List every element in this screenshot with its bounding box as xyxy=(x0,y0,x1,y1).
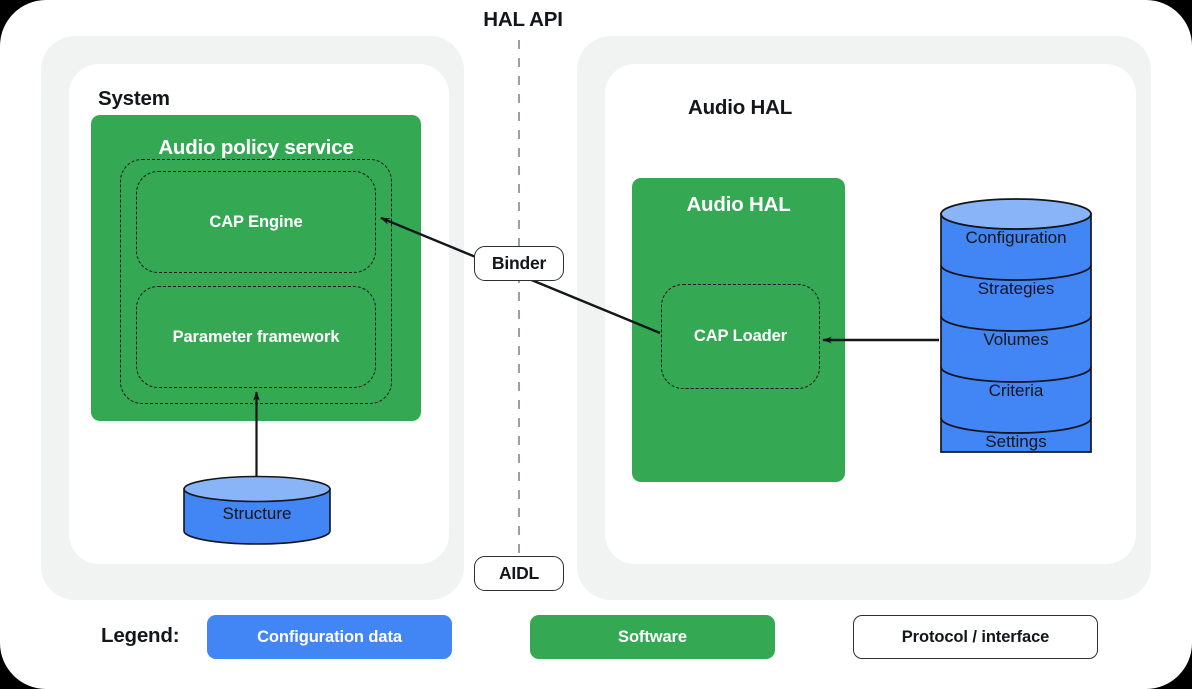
binder-interface-pill[interactable]: Binder xyxy=(474,246,564,281)
cap-engine-label: CAP Engine xyxy=(137,213,375,232)
db-section-strategies: Strategies xyxy=(940,279,1092,299)
structure-database: Structure xyxy=(183,476,331,544)
structure-database-label: Structure xyxy=(183,504,331,524)
legend-label: Legend: xyxy=(101,624,179,648)
audio-policy-service-title: Audio policy service xyxy=(91,136,421,160)
cap-loader-block: CAP Loader xyxy=(661,284,820,389)
cap-loader-label: CAP Loader xyxy=(662,327,819,346)
audio-hal-heading: Audio HAL xyxy=(688,96,792,120)
system-heading: System xyxy=(98,87,170,111)
aidl-interface-pill[interactable]: AIDL xyxy=(474,556,564,591)
db-section-volumes: Volumes xyxy=(940,330,1092,350)
legend-item-protocol-interface[interactable]: Protocol / interface xyxy=(853,615,1098,659)
db-section-configuration: Configuration xyxy=(940,228,1092,248)
legend-item-configuration-data[interactable]: Configuration data xyxy=(207,615,452,659)
parameter-framework-label: Parameter framework xyxy=(137,328,375,347)
hal-api-title: HAL API xyxy=(423,8,623,32)
db-section-criteria: Criteria xyxy=(940,381,1092,401)
audio-hal-block-title: Audio HAL xyxy=(632,193,845,217)
cap-engine-block: CAP Engine xyxy=(136,171,376,273)
legend-item-software[interactable]: Software xyxy=(530,615,775,659)
diagram-canvas: HAL API System Audio policy service CAP … xyxy=(0,0,1192,689)
db-section-settings: Settings xyxy=(940,432,1092,452)
parameter-framework-block: Parameter framework xyxy=(136,286,376,388)
configuration-database: Configuration Strategies Volumes Criteri… xyxy=(940,198,1092,468)
